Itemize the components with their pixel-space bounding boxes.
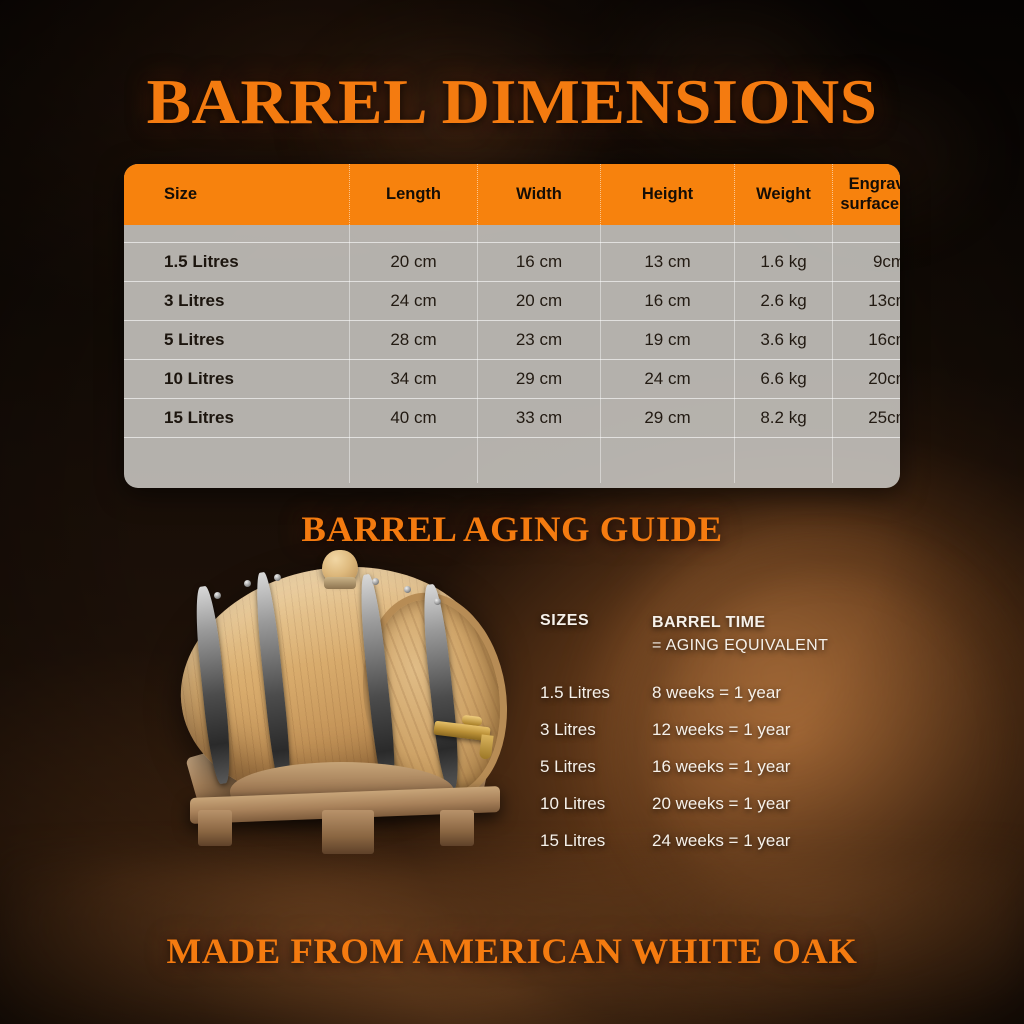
barrel-dimensions-poster: BARREL DIMENSIONS Size Length Width Heig… <box>0 0 1024 1024</box>
barrel-bung-plug <box>322 550 358 582</box>
aging-guide-size: 15 Litres <box>540 831 652 851</box>
cell-length: 20 cm <box>350 243 478 282</box>
cell-width: 29 cm <box>478 360 601 399</box>
cell-size: 10 Litres <box>124 360 350 399</box>
table-spacer-row-bottom <box>124 438 900 484</box>
cell-size: 5 Litres <box>124 321 350 360</box>
aging-guide-row: 10 Litres 20 weeks = 1 year <box>540 794 900 831</box>
cell-width: 23 cm <box>478 321 601 360</box>
dimensions-table-card: Size Length Width Height Weight Engravin… <box>124 164 900 488</box>
aging-guide-time: 24 weeks = 1 year <box>652 831 790 851</box>
cell-width: 20 cm <box>478 282 601 321</box>
table-body: 1.5 Litres 20 cm 16 cm 13 cm 1.6 kg 9cm … <box>124 225 900 483</box>
barrel-rivet <box>434 598 441 605</box>
table-row: 15 Litres 40 cm 33 cm 29 cm 8.2 kg 25cm <box>124 399 900 438</box>
cell-width: 33 cm <box>478 399 601 438</box>
column-header-width: Width <box>478 164 601 225</box>
aging-guide-sizes-heading: SIZES <box>540 612 652 657</box>
column-header-weight: Weight <box>735 164 833 225</box>
cell-length: 28 cm <box>350 321 478 360</box>
aging-guide-list: SIZES BARREL TIME = AGING EQUIVALENT 1.5… <box>540 612 900 868</box>
cell-length: 40 cm <box>350 399 478 438</box>
barrel-rivet <box>404 586 411 593</box>
aging-guide-size: 3 Litres <box>540 720 652 740</box>
cell-engraving: 16cm <box>833 321 901 360</box>
aging-guide-row: 1.5 Litres 8 weeks = 1 year <box>540 683 900 720</box>
cell-length: 34 cm <box>350 360 478 399</box>
table-row: 3 Litres 24 cm 20 cm 16 cm 2.6 kg 13cm <box>124 282 900 321</box>
aging-guide-header-row: SIZES BARREL TIME = AGING EQUIVALENT <box>540 612 900 657</box>
table-row: 10 Litres 34 cm 29 cm 24 cm 6.6 kg 20cm <box>124 360 900 399</box>
footer-title: MADE FROM AMERICAN WHITE OAK <box>0 930 1024 972</box>
cell-engraving: 25cm <box>833 399 901 438</box>
column-header-length: Length <box>350 164 478 225</box>
table-row: 5 Litres 28 cm 23 cm 19 cm 3.6 kg 16cm <box>124 321 900 360</box>
dimensions-table: Size Length Width Height Weight Engravin… <box>124 164 900 483</box>
barrel-stand-foot <box>198 810 232 846</box>
cell-size: 15 Litres <box>124 399 350 438</box>
cell-height: 29 cm <box>601 399 735 438</box>
aging-guide-row: 15 Litres 24 weeks = 1 year <box>540 831 900 868</box>
aging-guide-row: 3 Litres 12 weeks = 1 year <box>540 720 900 757</box>
table-spacer-row-top <box>124 225 900 243</box>
cell-weight: 8.2 kg <box>735 399 833 438</box>
aging-guide-size: 1.5 Litres <box>540 683 652 703</box>
column-header-engraving-line2: surface area <box>840 195 900 213</box>
aging-guide-time: 8 weeks = 1 year <box>652 683 781 703</box>
cell-weight: 2.6 kg <box>735 282 833 321</box>
cell-height: 19 cm <box>601 321 735 360</box>
cell-size: 3 Litres <box>124 282 350 321</box>
aging-guide-time: 20 weeks = 1 year <box>652 794 790 814</box>
cell-height: 13 cm <box>601 243 735 282</box>
barrel-rivet <box>274 574 281 581</box>
cell-width: 16 cm <box>478 243 601 282</box>
barrel-stand-foot <box>440 810 474 846</box>
cell-length: 24 cm <box>350 282 478 321</box>
aging-guide-time: 12 weeks = 1 year <box>652 720 790 740</box>
aging-guide-row: 5 Litres 16 weeks = 1 year <box>540 757 900 794</box>
cell-weight: 3.6 kg <box>735 321 833 360</box>
aging-guide-time-heading: BARREL TIME = AGING EQUIVALENT <box>652 612 828 657</box>
oak-barrel-icon <box>172 548 512 898</box>
aging-guide-time-subheading: = AGING EQUIVALENT <box>652 635 828 658</box>
barrel-rivet <box>244 580 251 587</box>
barrel-rivet <box>214 592 221 599</box>
page-title: BARREL DIMENSIONS <box>0 66 1024 139</box>
cell-height: 24 cm <box>601 360 735 399</box>
aging-guide-size: 5 Litres <box>540 757 652 777</box>
aging-guide-size: 10 Litres <box>540 794 652 814</box>
column-header-engraving-line1: Engraving <box>849 175 900 193</box>
cell-engraving: 9cm <box>833 243 901 282</box>
cell-engraving: 20cm <box>833 360 901 399</box>
aging-guide-time-heading-main: BARREL TIME <box>652 614 765 631</box>
column-header-engraving-surface-area: Engraving surface area <box>833 164 901 225</box>
table-header: Size Length Width Height Weight Engravin… <box>124 164 900 225</box>
cell-weight: 1.6 kg <box>735 243 833 282</box>
barrel-stand-foot <box>322 810 374 854</box>
column-header-height: Height <box>601 164 735 225</box>
cell-height: 16 cm <box>601 282 735 321</box>
barrel-rivet <box>372 578 379 585</box>
aging-guide-time: 16 weeks = 1 year <box>652 757 790 777</box>
table-header-row: Size Length Width Height Weight Engravin… <box>124 164 900 225</box>
cell-engraving: 13cm <box>833 282 901 321</box>
cell-weight: 6.6 kg <box>735 360 833 399</box>
cell-size: 1.5 Litres <box>124 243 350 282</box>
column-header-size: Size <box>124 164 350 225</box>
aging-guide-title: BARREL AGING GUIDE <box>0 508 1024 550</box>
table-row: 1.5 Litres 20 cm 16 cm 13 cm 1.6 kg 9cm <box>124 243 900 282</box>
